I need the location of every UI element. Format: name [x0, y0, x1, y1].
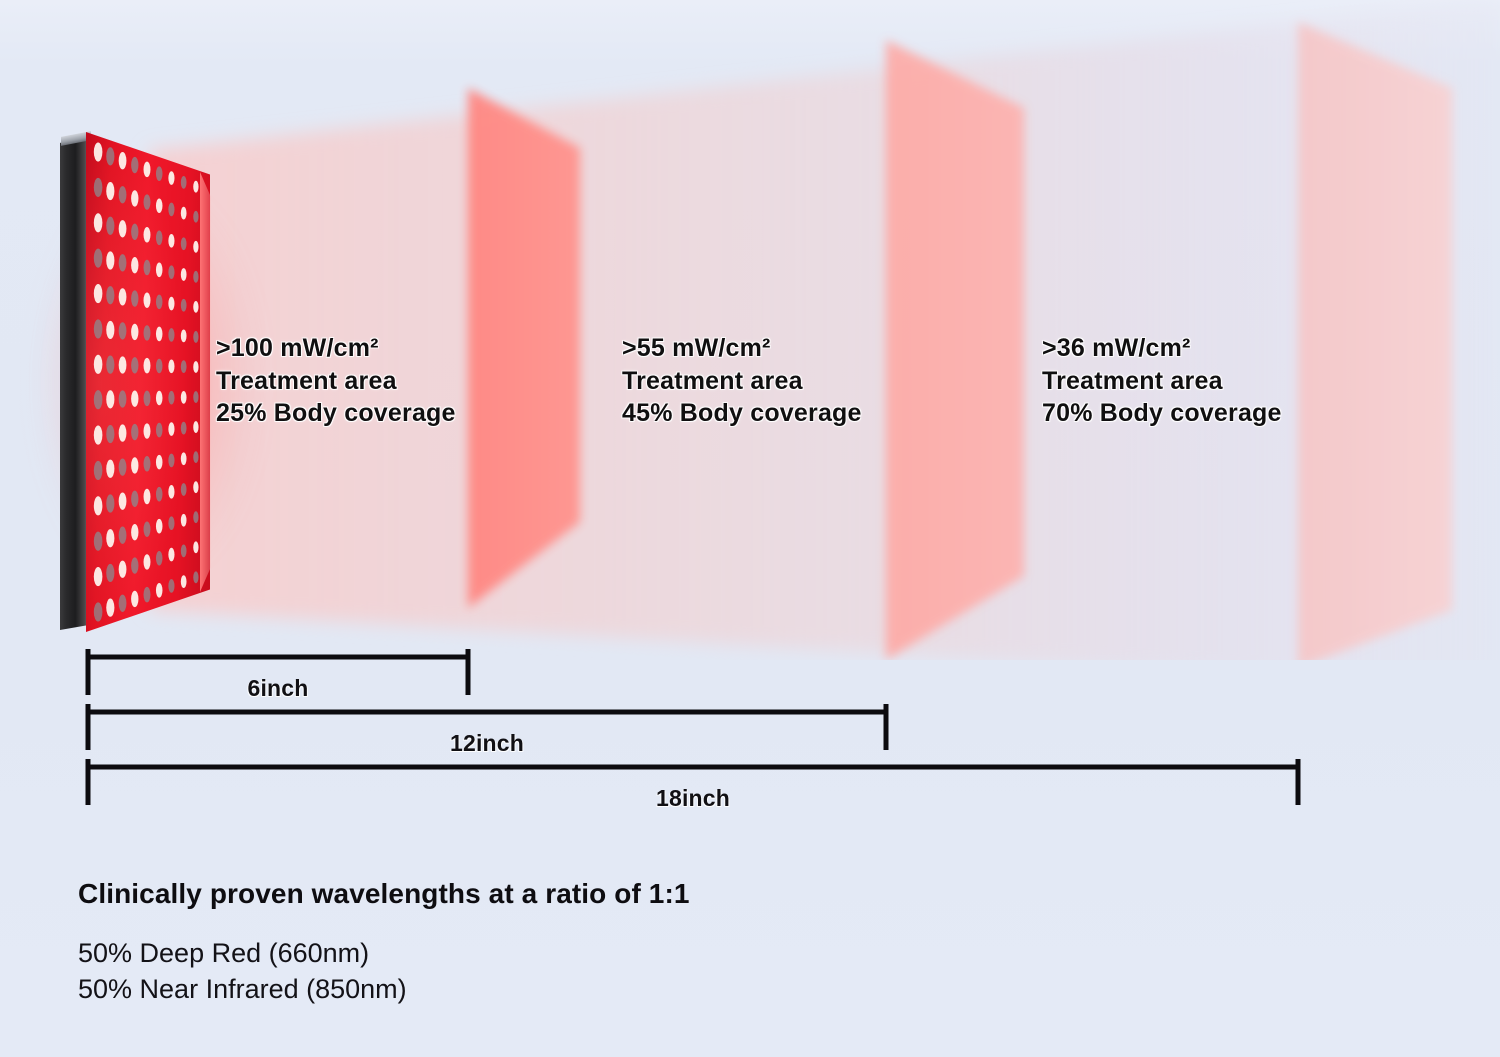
led-near-infrared: [168, 328, 174, 342]
led-near-infrared: [131, 357, 138, 373]
led-visible-red: [131, 190, 138, 206]
led-visible-red: [131, 390, 138, 406]
led-near-infrared: [131, 224, 138, 240]
led-visible-red: [181, 207, 187, 220]
led-near-infrared: [119, 322, 127, 339]
led-visible-red: [168, 297, 174, 311]
led-near-infrared: [119, 186, 127, 203]
dimension-label-12inch: 12inch: [450, 730, 524, 757]
irradiance-plane-18inch: [1298, 22, 1452, 660]
body-coverage-18inch: 70% Body coverage: [1042, 397, 1282, 430]
led-visible-red: [119, 561, 127, 578]
irradiance-value-12inch: >55 mW/cm²: [622, 332, 862, 365]
led-visible-red: [193, 181, 198, 193]
led-visible-red: [181, 452, 187, 465]
led-near-infrared: [106, 217, 114, 235]
irradiance-plane-12inch: [886, 40, 1024, 660]
led-near-infrared: [106, 147, 114, 165]
led-visible-red: [193, 481, 198, 493]
led-near-infrared: [144, 456, 151, 471]
body-coverage-12inch: 45% Body coverage: [622, 397, 862, 430]
callout-18inch: >36 mW/cm² Treatment area 70% Body cover…: [1042, 332, 1282, 430]
led-near-infrared: [131, 557, 138, 573]
led-near-infrared: [119, 458, 127, 475]
led-near-infrared: [156, 166, 163, 181]
wavelength-line-near-infrared: 50% Near Infrared (850nm): [78, 972, 690, 1008]
led-near-infrared: [193, 331, 198, 343]
led-visible-red: [193, 361, 198, 373]
led-near-infrared: [94, 602, 103, 621]
led-near-infrared: [168, 265, 174, 279]
led-near-infrared: [106, 494, 114, 512]
led-near-infrared: [94, 319, 103, 338]
led-visible-red: [131, 591, 138, 607]
led-near-infrared: [156, 423, 163, 438]
led-visible-red: [168, 359, 174, 373]
led-visible-red: [156, 455, 163, 470]
led-grid: [86, 132, 210, 632]
led-visible-red: [106, 460, 114, 478]
led-near-infrared: [94, 390, 103, 409]
led-visible-red: [168, 422, 174, 436]
led-near-infrared: [181, 237, 187, 250]
led-near-infrared: [94, 178, 103, 197]
led-visible-red: [181, 514, 187, 527]
led-near-infrared: [156, 231, 163, 246]
led-visible-red: [144, 292, 151, 307]
led-visible-red: [168, 485, 174, 499]
led-near-infrared: [193, 451, 198, 463]
led-near-infrared: [181, 545, 187, 558]
led-visible-red: [193, 541, 198, 553]
wavelength-section: Clinically proven wavelengths at a ratio…: [78, 878, 690, 1007]
led-near-infrared: [94, 461, 103, 480]
led-visible-red: [131, 457, 138, 473]
led-near-infrared: [168, 391, 174, 405]
led-near-infrared: [193, 271, 198, 283]
callout-12inch: >55 mW/cm² Treatment area 45% Body cover…: [622, 332, 862, 430]
led-visible-red: [94, 355, 103, 374]
led-therapy-panel: [60, 132, 210, 632]
led-near-infrared: [106, 564, 114, 582]
panel-right-rim: [200, 172, 211, 592]
led-near-infrared: [94, 249, 103, 268]
led-visible-red: [156, 198, 163, 213]
led-near-infrared: [193, 211, 198, 223]
led-visible-red: [144, 227, 151, 242]
led-near-infrared: [119, 595, 127, 612]
led-near-infrared: [168, 454, 174, 468]
led-visible-red: [181, 330, 187, 343]
led-near-infrared: [156, 551, 163, 566]
led-visible-red: [156, 583, 163, 598]
callout-6inch: >100 mW/cm² Treatment area 25% Body cove…: [216, 332, 456, 430]
led-visible-red: [156, 263, 163, 278]
led-near-infrared: [94, 532, 103, 551]
treatment-area-label-12inch: Treatment area: [622, 365, 862, 398]
led-visible-red: [193, 421, 198, 433]
led-visible-red: [156, 327, 163, 342]
led-visible-red: [94, 567, 103, 586]
led-near-infrared: [131, 157, 138, 173]
led-visible-red: [144, 162, 151, 177]
led-near-infrared: [144, 391, 151, 406]
led-near-infrared: [144, 521, 151, 536]
led-near-infrared: [168, 516, 174, 530]
led-visible-red: [94, 284, 103, 303]
led-visible-red: [94, 142, 103, 161]
led-visible-red: [181, 391, 187, 404]
led-visible-red: [94, 426, 103, 445]
led-visible-red: [156, 519, 163, 534]
led-near-infrared: [193, 391, 198, 403]
led-near-infrared: [131, 424, 138, 440]
led-visible-red: [119, 424, 127, 441]
led-visible-red: [131, 524, 138, 540]
led-visible-red: [144, 423, 151, 438]
irradiance-value-18inch: >36 mW/cm²: [1042, 332, 1282, 365]
infographic-canvas: >100 mW/cm² Treatment area 25% Body cove…: [0, 0, 1500, 1057]
led-visible-red: [181, 575, 187, 588]
led-visible-red: [193, 301, 198, 313]
led-near-infrared: [106, 356, 114, 374]
led-visible-red: [106, 599, 114, 617]
led-near-infrared: [144, 260, 151, 275]
led-near-infrared: [168, 579, 174, 593]
led-visible-red: [168, 548, 174, 562]
led-near-infrared: [131, 290, 138, 306]
led-near-infrared: [131, 491, 138, 507]
led-visible-red: [144, 554, 151, 569]
led-near-infrared: [193, 511, 198, 523]
led-near-infrared: [144, 587, 151, 602]
led-near-infrared: [106, 286, 114, 304]
led-near-infrared: [106, 425, 114, 443]
irradiance-plane-6inch: [468, 88, 580, 608]
led-near-infrared: [181, 360, 187, 373]
led-visible-red: [131, 257, 138, 273]
led-visible-red: [144, 358, 151, 373]
dimension-label-6inch: 6inch: [247, 675, 308, 702]
led-visible-red: [193, 241, 198, 253]
led-visible-red: [119, 152, 127, 169]
led-near-infrared: [144, 194, 151, 209]
panel-side-bezel: [60, 138, 88, 630]
body-coverage-6inch: 25% Body coverage: [216, 397, 456, 430]
led-visible-red: [119, 356, 127, 373]
led-visible-red: [168, 234, 174, 248]
wavelength-heading: Clinically proven wavelengths at a ratio…: [78, 878, 690, 910]
led-near-infrared: [156, 359, 163, 374]
led-visible-red: [181, 268, 187, 281]
led-visible-red: [94, 213, 103, 232]
led-visible-red: [106, 529, 114, 547]
led-near-infrared: [193, 571, 198, 583]
led-visible-red: [168, 171, 174, 185]
led-near-infrared: [144, 325, 151, 340]
led-near-infrared: [119, 390, 127, 407]
treatment-area-label-18inch: Treatment area: [1042, 365, 1282, 398]
led-near-infrared: [119, 254, 127, 271]
led-visible-red: [119, 288, 127, 305]
led-visible-red: [119, 220, 127, 237]
led-visible-red: [106, 321, 114, 339]
led-visible-red: [106, 390, 114, 408]
irradiance-value-6inch: >100 mW/cm²: [216, 332, 456, 365]
led-near-infrared: [156, 295, 163, 310]
wavelength-line-deep-red: 50% Deep Red (660nm): [78, 936, 690, 972]
led-near-infrared: [181, 176, 187, 189]
led-near-infrared: [119, 527, 127, 544]
distance-dimension-lines: 6inch 12inch 18inch: [0, 645, 1500, 840]
led-near-infrared: [181, 299, 187, 312]
treatment-area-label-6inch: Treatment area: [216, 365, 456, 398]
led-visible-red: [156, 391, 163, 406]
led-near-infrared: [181, 483, 187, 496]
dimension-label-18inch: 18inch: [656, 785, 730, 812]
led-near-infrared: [156, 487, 163, 502]
led-visible-red: [94, 496, 103, 515]
led-visible-red: [106, 251, 114, 269]
led-near-infrared: [168, 203, 174, 217]
led-visible-red: [131, 324, 138, 340]
led-visible-red: [106, 182, 114, 200]
led-visible-red: [144, 489, 151, 504]
beam-haze-cone: [150, 0, 1500, 660]
led-visible-red: [119, 493, 127, 510]
led-near-infrared: [181, 422, 187, 435]
